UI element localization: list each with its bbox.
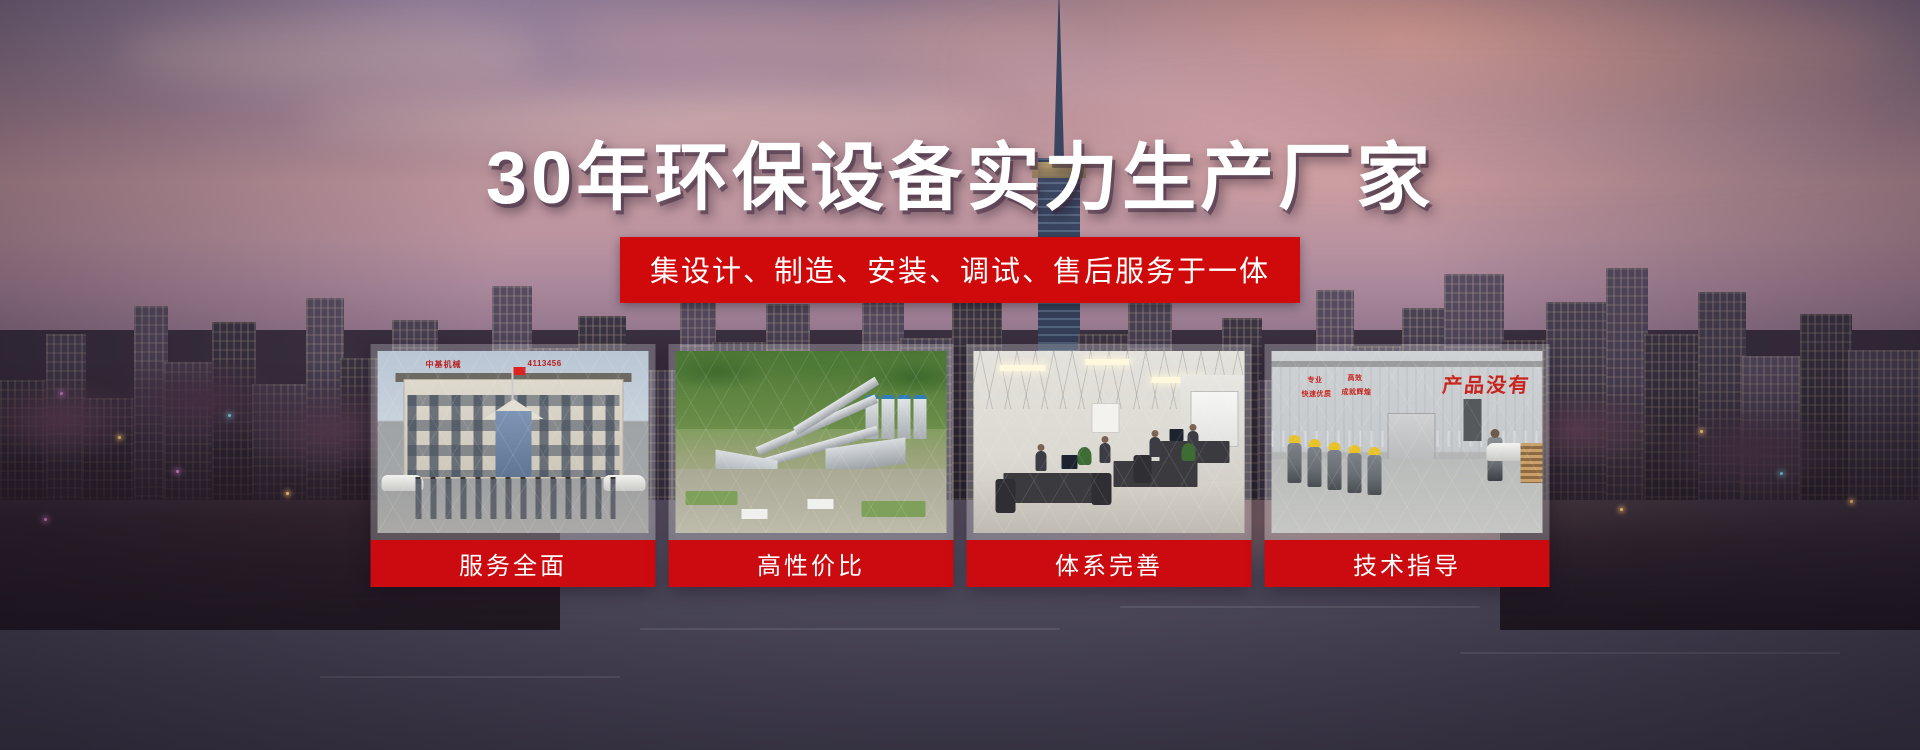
ceiling-light-shape [1086,359,1130,365]
chair-shape [1134,455,1152,483]
cloud-shape [1380,10,1900,82]
water-streak [1120,606,1480,608]
staff-lineup-shape [416,479,616,519]
monitor-shape [1062,455,1078,469]
flag-icon [512,367,514,401]
truck-shape [742,509,768,519]
silo-shape [898,395,911,439]
subtitle-banner: 集设计、制造、安装、调试、售后服务于一体 [620,237,1300,303]
factory-door-shape [1388,413,1436,461]
silo-shape [882,395,895,439]
feature-card[interactable]: 中基机械 4113456 服务全面 [371,344,656,587]
worker-shape [1308,447,1322,487]
building-phone-text: 4113456 [528,359,562,368]
person-shape [1036,451,1047,471]
light-spark [44,518,47,521]
light-spark [60,392,63,395]
worker-shape [1348,453,1362,493]
office-building-staff-lineup-photo: 中基机械 4113456 [378,351,649,533]
feature-card-label: 服务全面 [371,540,656,587]
feature-card-label: 高性价比 [669,540,954,587]
feature-card[interactable]: 体系完善 [967,344,1252,587]
chair-shape [1092,473,1112,505]
wall-picture-shape [1092,403,1120,433]
factory-wall-slogan-text: 高效 [1348,375,1363,383]
material-stack-shape [1521,443,1543,483]
worker-shape [1288,443,1302,483]
person-shape [1100,443,1111,463]
potted-plant-shape [1182,443,1196,461]
desk-shape [1004,473,1096,503]
person-shape [1150,437,1161,457]
factory-wall-slogan-text: 快速优质 [1302,391,1332,399]
feature-card-label: 技术指导 [1265,540,1550,587]
water-streak [1460,652,1840,654]
page-title: 30年环保设备实力生产厂家 [0,118,1920,225]
office-interior-workstations-photo [974,351,1245,533]
water-streak [640,628,1060,630]
foreground-trees-right [1500,380,1920,630]
aerial-industrial-plant-photo [676,351,947,533]
potted-plant-shape [1078,447,1092,465]
factory-exterior-workers-photo: 产品没有 专业 快速优质 高效 成就辉煌 [1272,351,1543,533]
lawn-shape [862,501,926,517]
feature-card[interactable]: 产品没有 专业 快速优质 高效 成就辉煌 技术指导 [1265,344,1550,587]
light-spark [1780,472,1783,475]
building-entrance-shape [496,411,532,477]
light-spark [228,414,231,417]
cloud-shape [120,18,540,88]
light-spark [1850,500,1853,503]
light-spark [1620,508,1623,511]
lawn-shape [686,491,738,505]
factory-side-door-shape [1464,399,1482,441]
monitor-shape [1170,429,1184,441]
building-sign-text: 中基机械 [426,359,462,370]
light-spark [118,436,121,439]
worker-shape [1328,450,1342,490]
feature-card-row: 中基机械 4113456 服务全面 [371,344,1550,587]
silo-shape [914,395,927,439]
feature-card[interactable]: 高性价比 [669,344,954,587]
hero-banner: 30年环保设备实力生产厂家 集设计、制造、安装、调试、售后服务于一体 中基机械 … [0,0,1920,750]
light-spark [286,492,289,495]
ceiling-light-shape [1000,365,1046,371]
truck-shape [808,499,834,509]
desk-shape [1114,461,1198,487]
water-streak [320,676,620,678]
factory-wall-headline-text: 产品没有 [1441,369,1532,398]
chair-shape [996,479,1016,513]
factory-wall-slogan-text: 专业 [1308,377,1323,385]
light-spark [176,470,179,473]
factory-wall-slogan-text: 成就辉煌 [1342,389,1372,397]
light-spark [1700,430,1703,433]
worker-shape [1368,455,1382,495]
feature-card-label: 体系完善 [967,540,1252,587]
